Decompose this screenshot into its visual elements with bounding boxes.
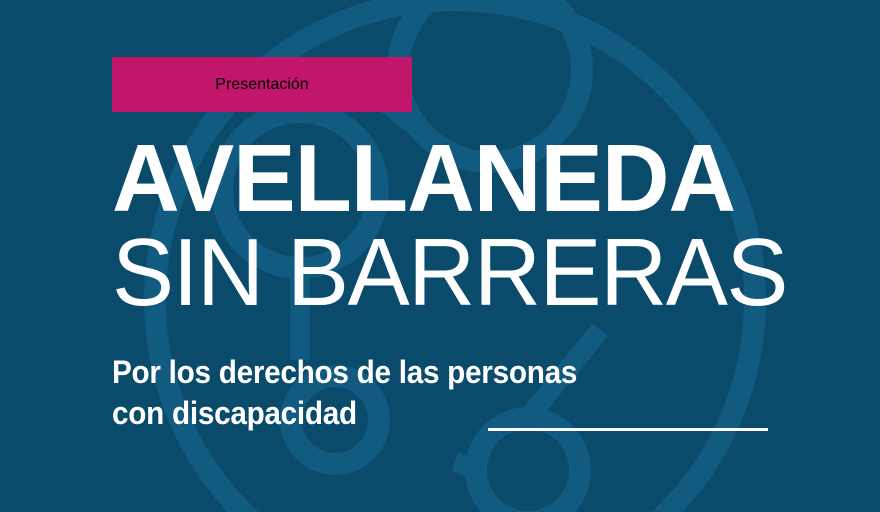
presentation-badge-label: Presentación [215,76,308,94]
subtitle-line-1: Por los derechos de las personas [112,352,762,393]
presentation-badge: Presentación [112,57,412,112]
headline-line-2: SIN BARRERAS [112,227,790,319]
presentation-slide: Presentación AVELLANEDA SIN BARRERAS Por… [0,0,880,512]
headline-line-1: AVELLANEDA [112,133,785,225]
subtitle: Por los derechos de las personas con dis… [112,352,762,434]
horizontal-rule [488,428,768,431]
